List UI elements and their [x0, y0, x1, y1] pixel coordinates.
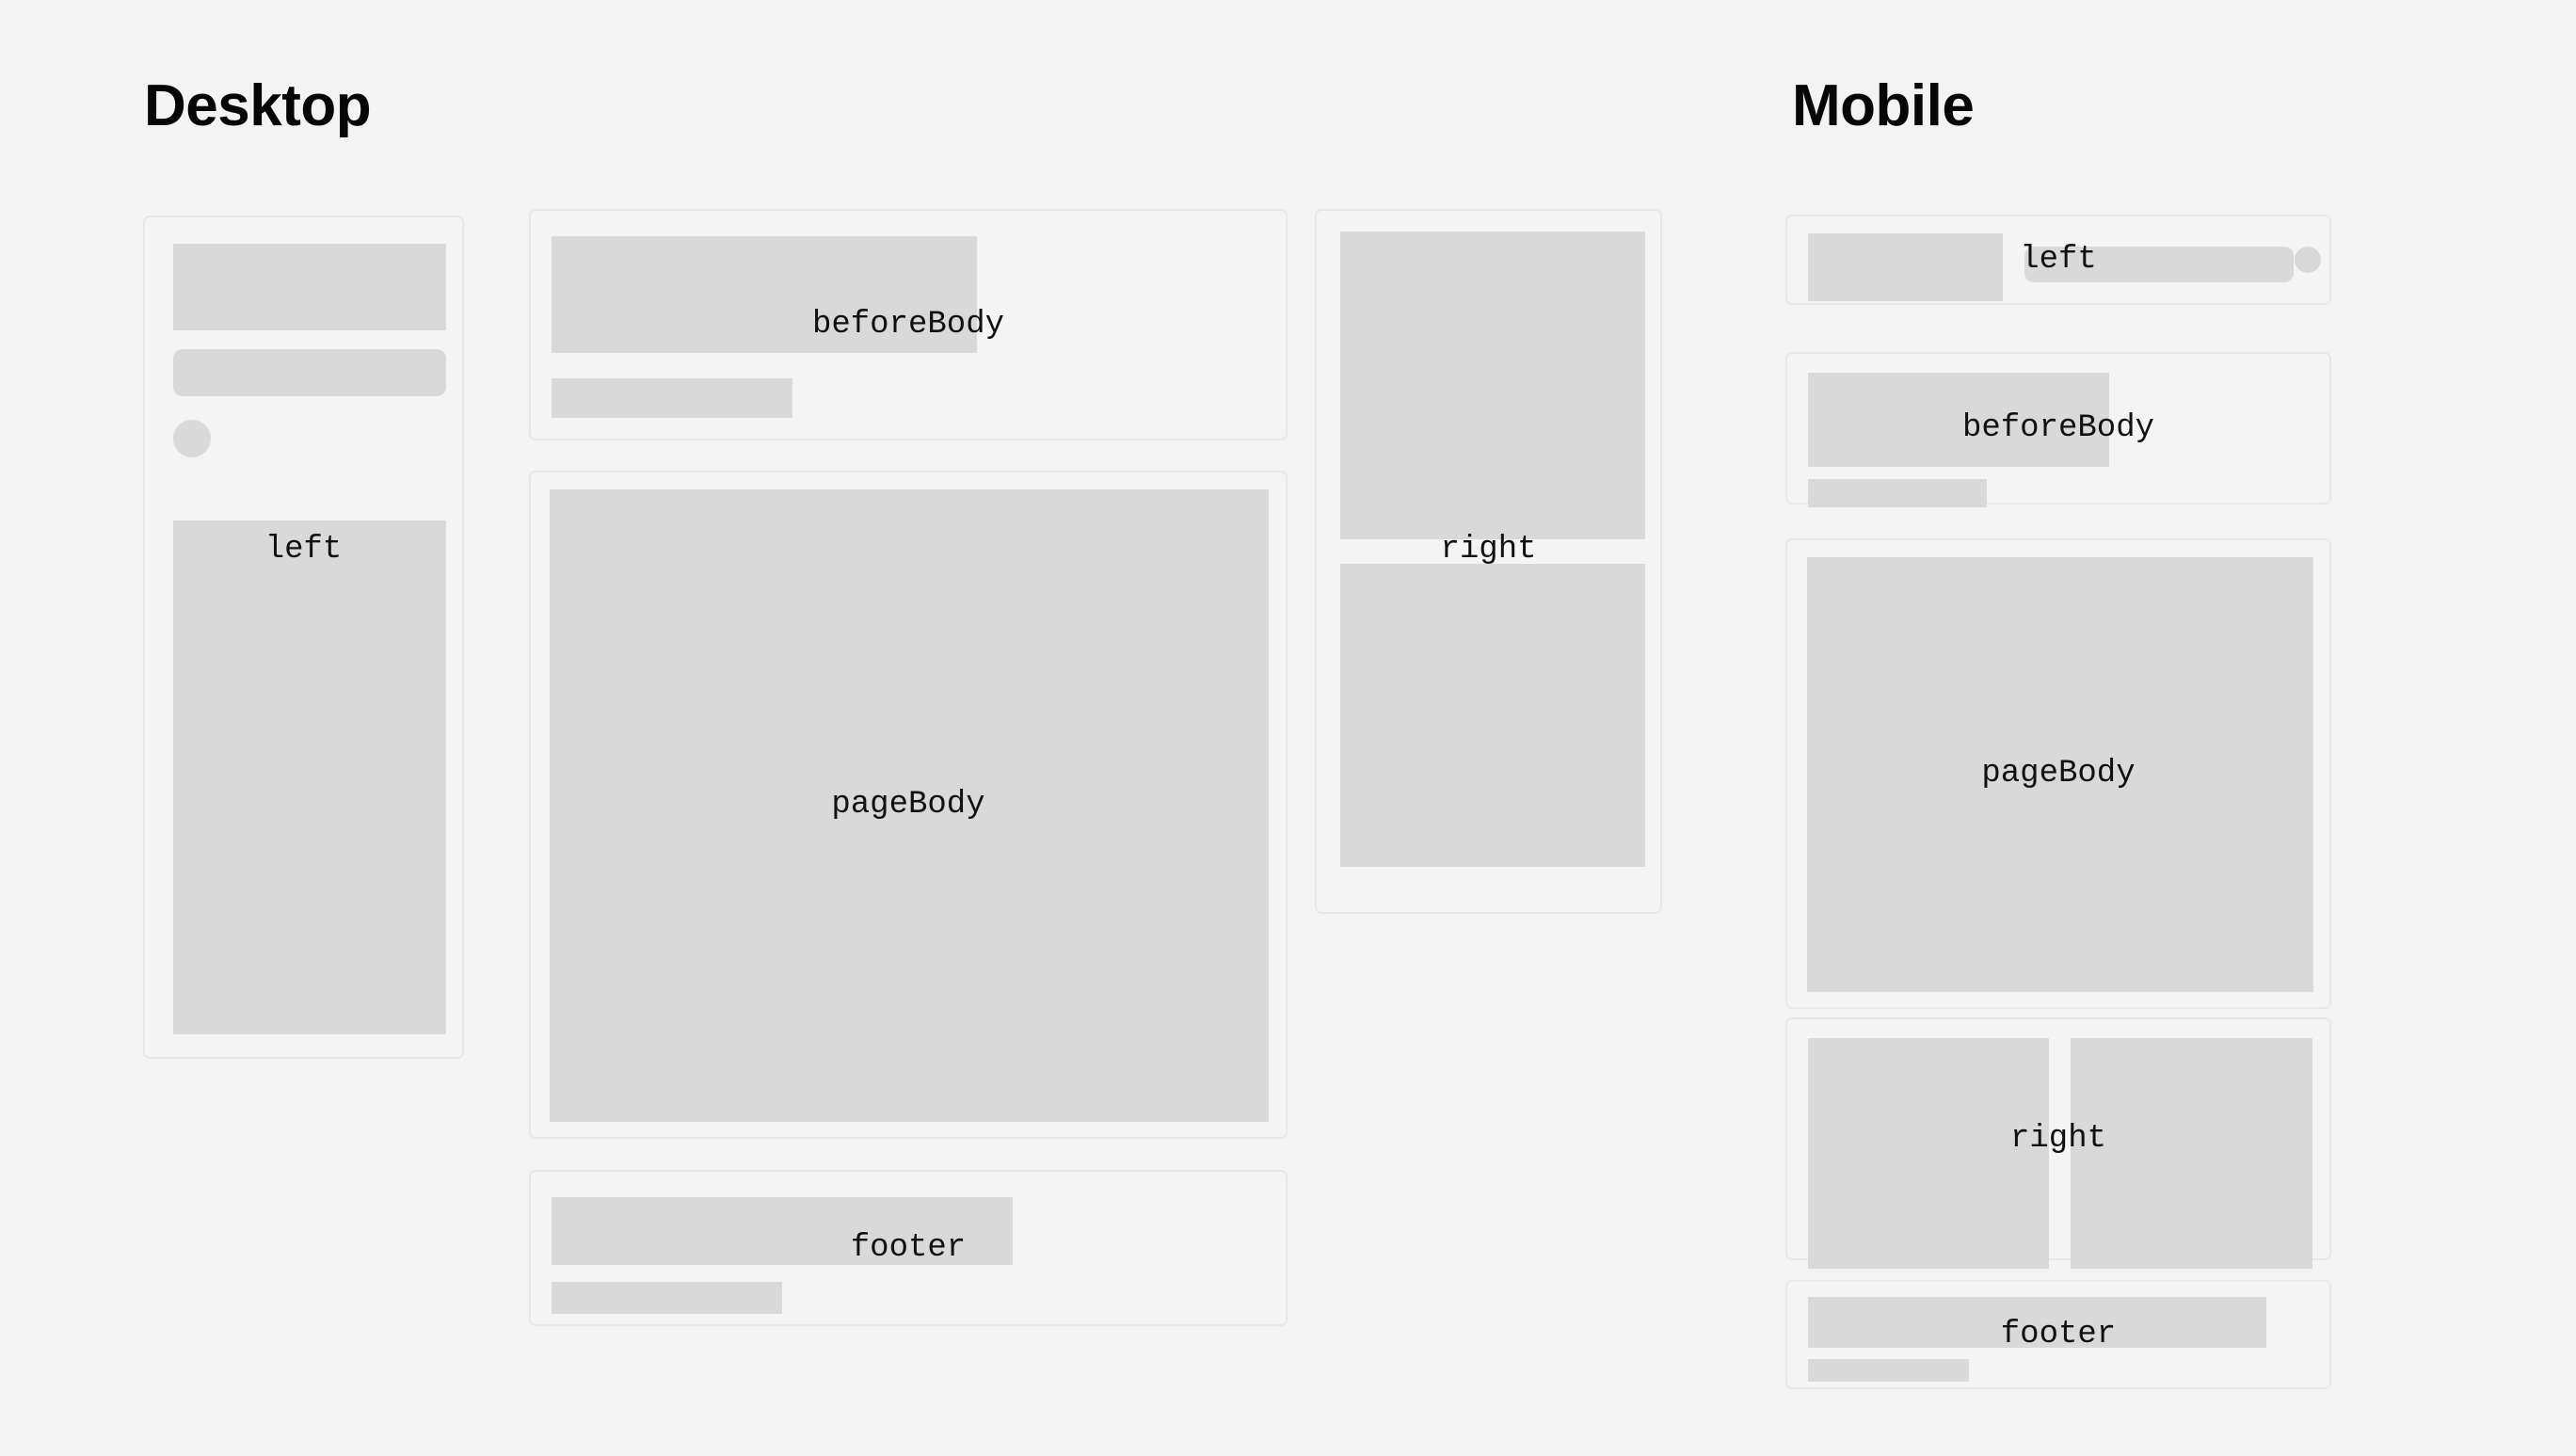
desktop-left-slot-card[interactable]	[143, 216, 464, 1059]
mobile-right-slot-card[interactable]	[1785, 1017, 2331, 1260]
skeleton-block	[1340, 232, 1645, 539]
desktop-right-slot-card[interactable]	[1315, 209, 1662, 914]
skeleton-avatar-circle	[2295, 247, 2321, 273]
skeleton-avatar-circle	[173, 420, 211, 457]
skeleton-pill	[173, 349, 446, 396]
skeleton-block	[1807, 557, 2313, 992]
desktop-beforebody-slot-card[interactable]	[529, 209, 1288, 440]
skeleton-block	[1808, 373, 2109, 467]
skeleton-block	[2071, 1038, 2312, 1269]
skeleton-block	[1808, 1297, 2266, 1348]
skeleton-block	[552, 378, 792, 418]
skeleton-block	[552, 236, 977, 353]
desktop-footer-slot-card[interactable]	[529, 1170, 1288, 1326]
mobile-beforebody-slot-card[interactable]	[1785, 352, 2331, 504]
mobile-section-title: Mobile	[1792, 77, 1974, 136]
skeleton-block	[1808, 479, 1987, 507]
skeleton-block	[552, 1282, 782, 1314]
skeleton-block	[550, 489, 1269, 1122]
skeleton-block	[1808, 233, 2003, 301]
skeleton-block	[1808, 1038, 2049, 1269]
skeleton-block	[173, 244, 446, 330]
skeleton-block	[552, 1197, 1013, 1265]
skeleton-block	[1808, 1359, 1969, 1382]
desktop-section-title: Desktop	[144, 77, 371, 136]
skeleton-block	[1340, 564, 1645, 867]
desktop-pagebody-slot-card[interactable]	[529, 471, 1288, 1139]
skeleton-pill	[2024, 247, 2294, 282]
mobile-pagebody-slot-card[interactable]	[1785, 538, 2331, 1009]
layout-preview-canvas: Desktop left beforeBody pageBody footer …	[0, 0, 2576, 1456]
skeleton-block	[173, 520, 446, 1034]
mobile-left-slot-card[interactable]	[1785, 215, 2331, 305]
mobile-footer-slot-card[interactable]	[1785, 1280, 2331, 1389]
